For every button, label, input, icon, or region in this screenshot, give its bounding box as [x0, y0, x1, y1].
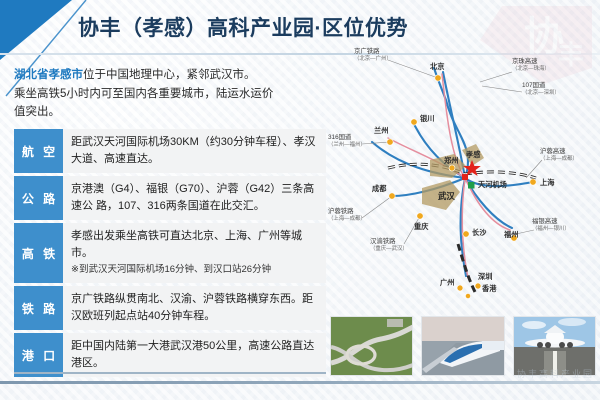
map-route-sub-jingzhu-expressway: （北京—珠海）	[512, 64, 550, 72]
row-tag-aviation: 航 空	[14, 129, 63, 173]
map-city-chongqing: 重庆	[414, 222, 428, 232]
map-route-sub-jingguang-rail: （北京—广州）	[354, 54, 392, 62]
map-city-changsha: 长沙	[472, 228, 486, 238]
map-route-sub-fuyin-expressway: （福州—银川）	[532, 224, 570, 232]
map-city-chengdu: 成都	[372, 184, 386, 194]
intro-line3: 值突出。	[14, 106, 60, 118]
table-bottom-rule	[14, 372, 326, 374]
row-text: 京港澳（G4）、福银（G70）、沪蓉（G42）三条高速公 路，107、316两条…	[71, 183, 314, 212]
map-routes-svg	[326, 38, 598, 310]
table-row: 公 路 京港澳（G4）、福银（G70）、沪蓉（G42）三条高速公 路，107、3…	[14, 176, 326, 220]
map-city-beijing: 北京	[430, 62, 444, 72]
table-row: 铁 路 京广铁路纵贯南北、汉渝、沪蓉铁路横穿东西。距汉欧班列起点站40分钟车程。	[14, 286, 326, 330]
map-city-hongkong: 香港	[482, 284, 496, 294]
map-city-guangzhou: 广州	[440, 278, 454, 288]
high-speed-train-photo	[421, 316, 504, 376]
row-subtext: ※到武汉天河国际机场16分钟、到汉口站26分钟	[71, 263, 320, 278]
row-tag-railway: 铁 路	[14, 286, 63, 330]
row-tag-port: 港 口	[14, 333, 63, 377]
row-body-high-speed-rail: 孝感出发乘坐高铁可直达北京、上海、广州等城市。 ※到武汉天河国际机场16分钟、到…	[63, 223, 326, 283]
map-city-fuzhou: 福州	[504, 230, 518, 240]
map-route-sub-g107: （北京—深圳）	[522, 88, 560, 96]
map-city-wuhan: 武汉	[438, 190, 455, 202]
row-text: 京广铁路纵贯南北、汉渝、沪蓉铁路横穿东西。距汉欧班列起点站40分钟车程。	[71, 293, 313, 322]
map-city-tianhe-airport: 天河机场	[478, 180, 507, 190]
intro-line1-rest: 位于中国地理中心，紧邻武汉市。	[83, 69, 256, 81]
row-tag-highway: 公 路	[14, 176, 63, 220]
map-city-shenzhen: 深圳	[478, 272, 492, 282]
highway-interchange-photo	[330, 316, 413, 376]
row-body-highway: 京港澳（G4）、福银（G70）、沪蓉（G42）三条高速公 路，107、316两条…	[63, 176, 326, 220]
slide-canvas: 协丰（孝感）高科产业园·区位优势 协 丰 湖北省孝感市位于中国地理中心，紧邻武汉…	[0, 0, 600, 400]
map-route-sub-g316: （兰州—福州）	[328, 140, 366, 148]
map-route-sub-hurong-rail: （上海—成都）	[328, 214, 366, 222]
row-body-port: 距中国内陆第一大港武汉港50公里，高速公路直达港区。	[63, 333, 326, 377]
row-text: 孝感出发乘坐高铁可直达北京、上海、广州等城市。	[71, 230, 302, 259]
row-body-aviation: 距武汉天河国际机场30KM（约30分钟车程）、孝汉大道、高速直达。	[63, 129, 326, 173]
table-row: 航 空 距武汉天河国际机场30KM（约30分钟车程）、孝汉大道、高速直达。	[14, 129, 326, 173]
transport-network-map: 京广铁路 （北京—广州） 京珠高速 （北京—珠海） 107国道 （北京—深圳） …	[326, 38, 598, 310]
row-text: 距中国内陆第一大港武汉港50公里，高速公路直达港区。	[71, 340, 314, 369]
table-row: 高 铁 孝感出发乘坐高铁可直达北京、上海、广州等城市。 ※到武汉天河国际机场16…	[14, 223, 326, 283]
map-city-lanzhou: 兰州	[374, 126, 388, 136]
row-body-railway: 京广铁路纵贯南北、汉渝、沪蓉铁路横穿东西。距汉欧班列起点站40分钟车程。	[63, 286, 326, 330]
map-city-yinchuan: 银川	[420, 114, 434, 124]
map-city-zhengzhou: 郑州	[444, 156, 458, 166]
intro-highlight: 湖北省孝感市	[14, 69, 83, 81]
row-tag-high-speed-rail: 高 铁	[14, 223, 63, 283]
corner-triangle-decoration	[0, 0, 72, 60]
footer-watermark: 协丰高科产业园	[517, 367, 594, 380]
map-city-xiaogan: 孝感	[466, 150, 480, 160]
intro-line2: 乘坐高铁5小时内可至国内各重要城市，陆运水运价	[14, 88, 273, 100]
footer-rule	[0, 381, 600, 384]
map-route-sub-hurong-expressway: （上海—成都）	[540, 154, 578, 162]
map-city-shanghai: 上海	[540, 178, 554, 188]
row-text: 距武汉天河国际机场30KM（约30分钟车程）、孝汉大道、高速直达。	[71, 136, 315, 165]
map-route-sub-hanyu-rail: （重庆—武汉）	[370, 244, 408, 252]
table-row: 港 口 距中国内陆第一大港武汉港50公里，高速公路直达港区。	[14, 333, 326, 377]
advantages-table: 航 空 距武汉天河国际机场30KM（约30分钟车程）、孝汉大道、高速直达。 公 …	[14, 129, 326, 380]
intro-paragraph: 湖北省孝感市位于中国地理中心，紧邻武汉市。 乘坐高铁5小时内可至国内各重要城市，…	[14, 66, 322, 122]
